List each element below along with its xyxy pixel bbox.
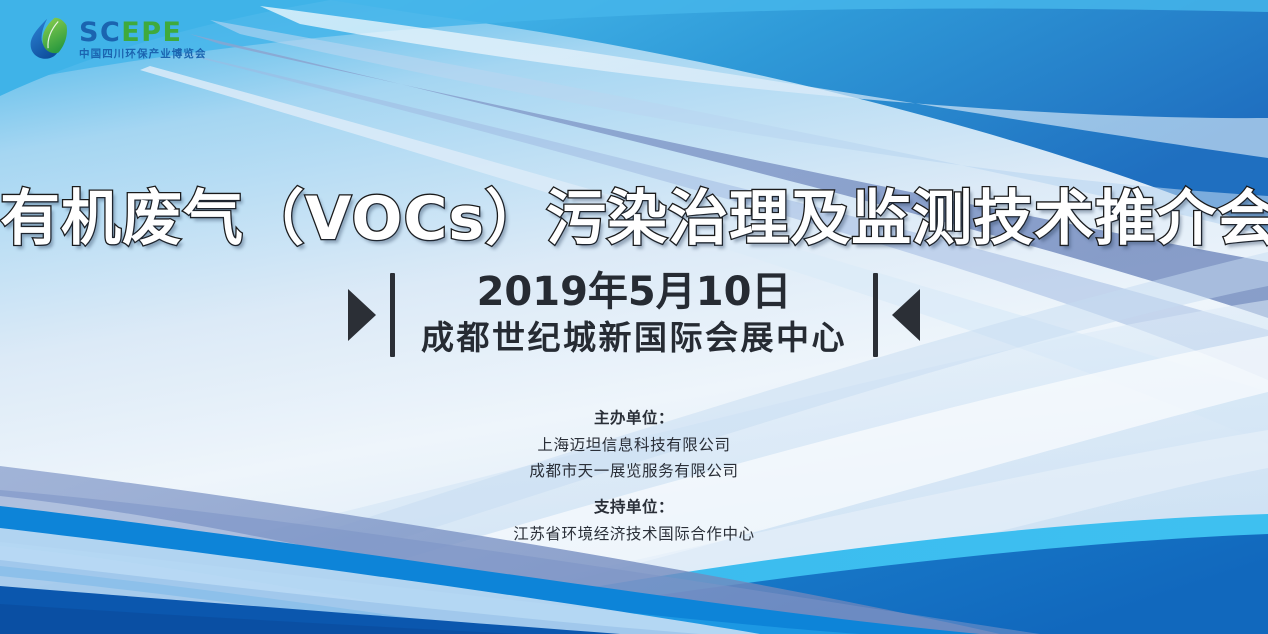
logo-wordmark: SCEPE <box>79 19 207 46</box>
host-name: 上海迈坦信息科技有限公司 <box>0 433 1268 458</box>
triangle-right-icon <box>348 289 376 341</box>
supporter-name: 江苏省环境经济技术国际合作中心 <box>0 522 1268 547</box>
logo-letters-sc: SC <box>79 17 121 48</box>
logo-letters-epe: EPE <box>121 17 182 48</box>
spacer <box>0 484 1268 493</box>
right-decoration <box>873 273 920 357</box>
triangle-left-icon <box>892 289 920 341</box>
scepe-logo: SCEPE 中国四川环保产业博览会 <box>26 16 207 62</box>
event-details: 2019年5月10日 成都世纪城新国际会展中心 <box>0 270 1268 360</box>
event-banner: SCEPE 中国四川环保产业博览会 有机废气（VOCs）污染治理及监测技术推介会… <box>0 0 1268 634</box>
vertical-bar-icon-left <box>390 273 395 357</box>
page-title: 有机废气（VOCs）污染治理及监测技术推介会 <box>0 170 1268 257</box>
host-name: 成都市天一展览服务有限公司 <box>0 459 1268 484</box>
support-label: 支持单位： <box>0 493 1268 522</box>
date-venue-text: 2019年5月10日 成都世纪城新国际会展中心 <box>421 270 847 360</box>
event-date: 2019年5月10日 <box>421 270 847 315</box>
event-venue: 成都世纪城新国际会展中心 <box>421 317 847 360</box>
leaf-water-drop-icon <box>26 16 72 62</box>
organizer-block: 主办单位： 上海迈坦信息科技有限公司 成都市天一展览服务有限公司 支持单位： 江… <box>0 404 1268 547</box>
vertical-bar-icon-right <box>873 273 878 357</box>
logo-subtitle: 中国四川环保产业博览会 <box>79 49 207 60</box>
logo-text-group: SCEPE 中国四川环保产业博览会 <box>79 19 207 60</box>
host-label: 主办单位： <box>0 404 1268 433</box>
left-decoration <box>348 273 395 357</box>
